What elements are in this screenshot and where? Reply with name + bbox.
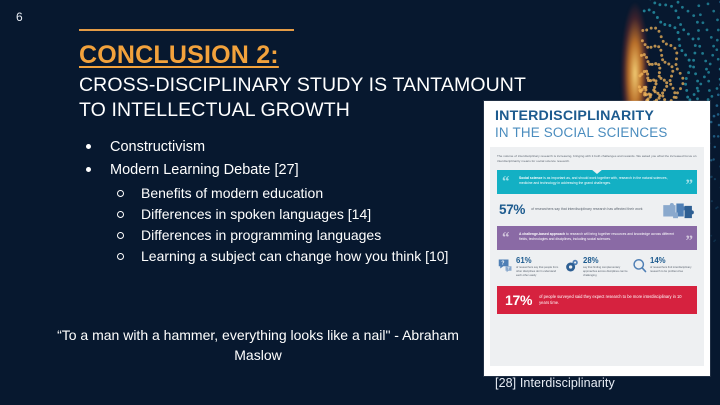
stat-28-value: 28% bbox=[583, 257, 629, 265]
list-item: Benefits of modern education bbox=[117, 183, 486, 203]
teal-quote-rest: is as important as, and should work toge… bbox=[519, 176, 668, 186]
infographic-body: The volume of interdisciplinary research… bbox=[490, 147, 704, 366]
stat-17-value: 17% bbox=[505, 292, 532, 308]
purple-quote-lead: A challenge-based approach bbox=[519, 232, 565, 236]
page-subtitle-line1: CROSS-DISCIPLINARY STUDY IS TANTAMOUNT bbox=[79, 74, 559, 98]
bullet-dot-icon bbox=[86, 167, 91, 172]
source-citation: [28] Interdisciplinarity bbox=[495, 376, 615, 390]
stat-57-value: 57% bbox=[499, 202, 525, 217]
page-number: 6 bbox=[16, 10, 23, 24]
purple-quote-box: “ ” A challenge-based approach to resear… bbox=[497, 226, 697, 250]
puzzle-pieces-icon bbox=[661, 201, 695, 219]
list-item: Differences in spoken languages [14] bbox=[117, 204, 486, 224]
stat-61-caption: of researchers say that people from othe… bbox=[516, 266, 562, 279]
stat-17-banner: 17% of people surveyed said they expect … bbox=[497, 286, 697, 314]
list-item: Differences in programming languages bbox=[117, 225, 486, 245]
stat-17-caption: of people surveyed said they expect rese… bbox=[539, 294, 689, 307]
list-item-label: Modern Learning Debate [27] bbox=[110, 160, 299, 181]
purple-quote-text: A challenge-based approach to research w… bbox=[519, 232, 677, 243]
stat-14-value: 14% bbox=[650, 257, 696, 265]
stat-28-caption: say that finding complementary approache… bbox=[583, 266, 629, 279]
quote-open-icon: “ bbox=[502, 175, 510, 190]
infographic-intro-text: The volume of interdisciplinary research… bbox=[497, 154, 697, 164]
list-item-label: Learning a subject can change how you th… bbox=[141, 246, 448, 266]
stat-61-cell: ? ? 61% of researchers say that people f… bbox=[498, 257, 562, 278]
bullet-list: Constructivism Modern Learning Debate [2… bbox=[86, 137, 486, 267]
list-item: Modern Learning Debate [27] bbox=[86, 160, 486, 181]
gears-icon bbox=[565, 258, 580, 273]
heading-rule bbox=[79, 29, 294, 31]
quote-notch-icon bbox=[591, 169, 603, 174]
slide: 6 CONCLUSION 2: CROSS-DISCIPLINARY STUDY… bbox=[0, 0, 720, 405]
page-title-kicker: CONCLUSION 2: bbox=[79, 42, 279, 69]
stat-14-cell: 14% of researchers find interdisciplinar… bbox=[632, 257, 696, 278]
stat-28-cell: 28% say that finding complementary appro… bbox=[565, 257, 629, 278]
magnifier-icon bbox=[632, 258, 647, 273]
list-item: Constructivism bbox=[86, 137, 486, 158]
bullet-ring-icon bbox=[117, 232, 124, 239]
infographic-title-line1: INTERDISCIPLINARITY bbox=[495, 109, 699, 124]
stat-14-caption: of researchers find interdisciplinary re… bbox=[650, 266, 696, 274]
speech-bubble-question-icon: ? ? bbox=[498, 258, 513, 273]
list-item-label: Differences in spoken languages [14] bbox=[141, 204, 371, 224]
infographic-header: INTERDISCIPLINARITY IN THE SOCIAL SCIENC… bbox=[484, 101, 710, 142]
stat-57-row: 57% of researchers say that interdiscipl… bbox=[497, 194, 697, 226]
sub-bullet-list: Benefits of modern education Differences… bbox=[117, 183, 486, 267]
teal-quote-text: Social science is as important as, and s… bbox=[519, 176, 677, 187]
teal-quote-box: “ ” Social science is as important as, a… bbox=[497, 170, 697, 194]
interdisciplinarity-infographic: INTERDISCIPLINARITY IN THE SOCIAL SCIENC… bbox=[484, 101, 710, 376]
infographic-title-line2: IN THE SOCIAL SCIENCES bbox=[495, 125, 699, 140]
stat-57-caption: of researchers say that interdisciplinar… bbox=[531, 207, 661, 213]
list-item-label: Constructivism bbox=[110, 137, 205, 158]
teal-quote-lead: Social science bbox=[519, 176, 542, 180]
quote-open-icon: “ bbox=[502, 231, 510, 246]
bullet-dot-icon bbox=[86, 144, 91, 149]
bullet-ring-icon bbox=[117, 253, 124, 260]
bullet-ring-icon bbox=[117, 211, 124, 218]
quote-close-icon: ” bbox=[686, 234, 694, 249]
bullet-ring-icon bbox=[117, 190, 124, 197]
maslow-quote: “To a man with a hammer, everything look… bbox=[42, 326, 474, 366]
svg-text:?: ? bbox=[501, 260, 504, 266]
list-item-label: Benefits of modern education bbox=[141, 183, 323, 203]
quote-close-icon: ” bbox=[686, 178, 694, 193]
stat-61-value: 61% bbox=[516, 257, 562, 265]
list-item: Learning a subject can change how you th… bbox=[117, 246, 486, 266]
three-stat-row: ? ? 61% of researchers say that people f… bbox=[497, 250, 697, 284]
list-item-label: Differences in programming languages bbox=[141, 225, 381, 245]
